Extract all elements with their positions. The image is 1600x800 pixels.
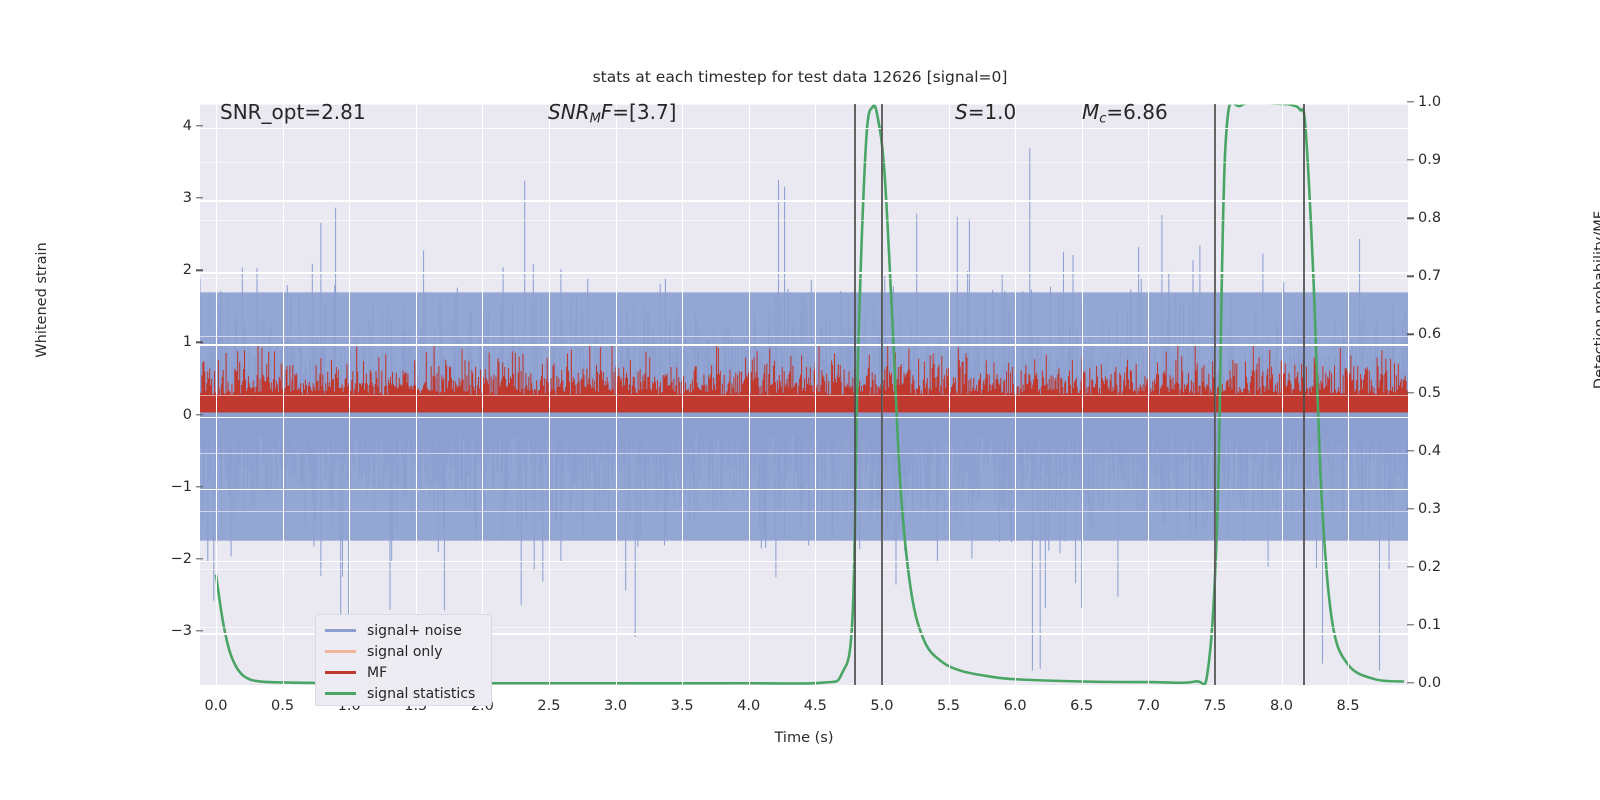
legend-swatch-icon xyxy=(325,650,356,652)
x-tick: 7.5 xyxy=(1185,698,1245,714)
gridline-y-right xyxy=(200,162,1408,163)
x-tick: 4.0 xyxy=(719,698,779,714)
x-tick: 3.0 xyxy=(586,698,646,714)
x-tick: 0.0 xyxy=(186,698,246,714)
y-tick-left: −1 xyxy=(132,479,192,495)
x-tick: 3.5 xyxy=(652,698,712,714)
annotation-s-value: S=1.0 xyxy=(955,100,1016,124)
figure-root: stats at each timestep for test data 126… xyxy=(0,0,1600,800)
y-tick-left: 2 xyxy=(132,262,192,278)
legend-item[interactable]: signal+ noise xyxy=(316,620,491,641)
gridline-y-right xyxy=(200,104,1408,105)
y-tick-right: 0.5 xyxy=(1418,385,1488,401)
y-tick-right: 0.7 xyxy=(1418,268,1488,284)
legend-swatch-icon xyxy=(325,671,356,673)
gridline-y-left xyxy=(200,417,1408,419)
y-tick-right: 0.2 xyxy=(1418,559,1488,575)
x-tick: 8.0 xyxy=(1251,698,1311,714)
y-tick-right: 0.8 xyxy=(1418,210,1488,226)
legend-swatch-icon xyxy=(325,692,356,694)
plot-area xyxy=(200,104,1408,685)
x-tick: 4.5 xyxy=(785,698,845,714)
merger-vline xyxy=(1214,104,1216,685)
gridline-y-left xyxy=(200,561,1408,563)
gridline-y-right xyxy=(200,511,1408,512)
legend-item[interactable]: signal only xyxy=(316,641,491,662)
legend-item[interactable]: MF xyxy=(316,662,491,683)
gridline-y-right xyxy=(200,569,1408,570)
annotation-snr-opt: SNR_opt=2.81 xyxy=(220,100,366,124)
gridline-y-right xyxy=(200,278,1408,279)
gridline-y-left xyxy=(200,489,1408,491)
y-tick-left: −3 xyxy=(132,623,192,639)
y-tick-right: 1.0 xyxy=(1418,94,1488,110)
gridline-y-left xyxy=(200,344,1408,346)
gridline-y-right xyxy=(200,220,1408,221)
merger-vline xyxy=(881,104,883,685)
legend: signal+ noisesignal onlyMFsignal statist… xyxy=(315,614,492,706)
legend-label: MF xyxy=(367,665,387,681)
annotation-mchirp: Mc=6.86 xyxy=(1082,100,1168,126)
gridline-y-right xyxy=(200,453,1408,454)
x-tick: 6.5 xyxy=(1052,698,1112,714)
gridline-y-right xyxy=(200,395,1408,396)
annotation-snr-mf: SNRMF=[3.7] xyxy=(548,100,676,126)
y-axis-left-label: Whitened strain xyxy=(34,200,50,400)
legend-label: signal only xyxy=(367,644,442,660)
x-tick: 5.5 xyxy=(919,698,979,714)
y-tick-right: 0.1 xyxy=(1418,617,1488,633)
y-tick-right: 0.6 xyxy=(1418,326,1488,342)
y-tick-left: 4 xyxy=(132,118,192,134)
gridline-y-right xyxy=(200,336,1408,337)
y-tick-right: 0.4 xyxy=(1418,443,1488,459)
x-tick: 0.5 xyxy=(253,698,313,714)
x-tick: 5.0 xyxy=(852,698,912,714)
y-tick-right: 0.3 xyxy=(1418,501,1488,517)
x-tick: 2.5 xyxy=(519,698,579,714)
legend-swatch-icon xyxy=(325,629,356,631)
gridline-y-left xyxy=(200,200,1408,202)
gridline-y-left xyxy=(200,128,1408,130)
chart-title: stats at each timestep for test data 126… xyxy=(0,68,1600,86)
legend-label: signal+ noise xyxy=(367,623,462,639)
legend-label: signal statistics xyxy=(367,686,475,702)
y-tick-left: 3 xyxy=(132,190,192,206)
x-tick: 8.5 xyxy=(1318,698,1378,714)
merger-vline xyxy=(1303,104,1305,685)
y-tick-left: 0 xyxy=(132,407,192,423)
y-tick-right: 0.0 xyxy=(1418,675,1488,691)
merger-vline xyxy=(854,104,856,685)
y-axis-right-label: Detection probability/MF xyxy=(1592,140,1600,460)
y-tick-right: 0.9 xyxy=(1418,152,1488,168)
y-tick-left: 1 xyxy=(132,334,192,350)
x-tick: 6.0 xyxy=(985,698,1045,714)
x-axis-label: Time (s) xyxy=(200,730,1408,746)
legend-item[interactable]: signal statistics xyxy=(316,683,491,704)
gridline-y-left xyxy=(200,272,1408,274)
y-tick-left: −2 xyxy=(132,551,192,567)
x-tick: 7.0 xyxy=(1118,698,1178,714)
